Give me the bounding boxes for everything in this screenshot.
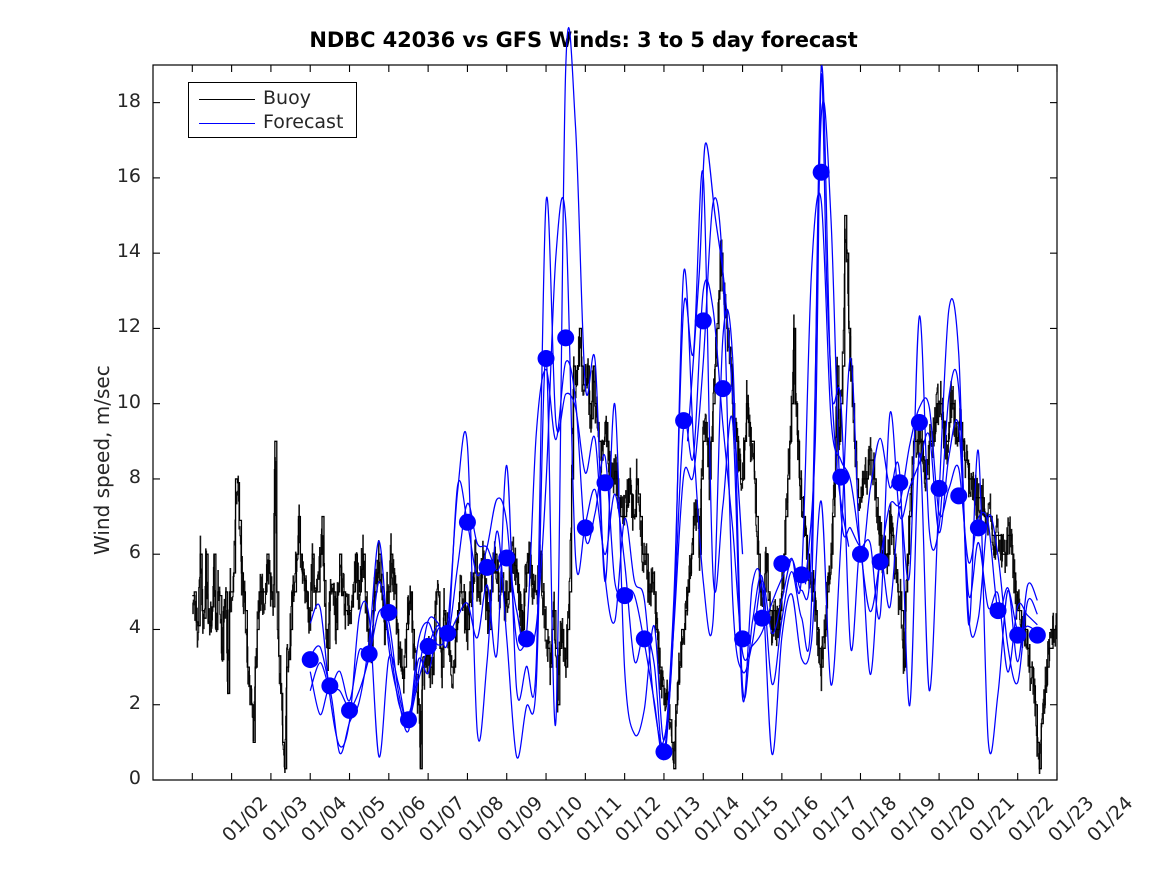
y-tick-label: 14 [101,240,141,262]
forecast-marker [538,350,555,367]
y-tick-label: 12 [101,315,141,337]
y-tick-label: 18 [101,90,141,112]
legend[interactable]: Buoy Forecast [188,82,357,138]
legend-swatch-forecast [199,123,255,124]
series-forecast-member [310,28,1037,759]
forecast-marker [479,559,496,576]
forecast-marker [773,555,790,572]
forecast-marker [675,412,692,429]
forecast-marker [321,677,338,694]
forecast-marker [498,549,515,566]
y-tick-label: 10 [101,391,141,413]
forecast-marker [577,519,594,536]
forecast-marker [302,651,319,668]
forecast-marker [361,645,378,662]
legend-label-buoy: Buoy [263,87,311,109]
legend-entry-buoy: Buoy [189,87,356,113]
forecast-marker [714,380,731,397]
forecast-marker [813,164,830,181]
forecast-marker [931,480,948,497]
series-forecast-member [310,101,1037,760]
legend-label-forecast: Forecast [263,111,343,133]
forecast-marker [891,474,908,491]
forecast-marker [380,604,397,621]
forecast-marker [734,630,751,647]
forecast-marker [1009,627,1026,644]
legend-swatch-buoy [199,99,255,100]
forecast-marker [911,414,928,431]
y-tick-label: 6 [101,541,141,563]
forecast-marker [420,638,437,655]
y-tick-label: 0 [101,767,141,789]
series-forecast-member [310,66,1037,754]
forecast-marker [852,546,869,563]
y-tick-label: 16 [101,165,141,187]
forecast-marker [557,329,574,346]
y-tick-label: 8 [101,466,141,488]
forecast-marker [832,469,849,486]
legend-entry-forecast: Forecast [189,111,356,137]
forecast-marker [872,553,889,570]
plot-area [0,0,1167,875]
forecast-marker [970,519,987,536]
y-tick-label: 2 [101,692,141,714]
forecast-marker [754,610,771,627]
forecast-marker [695,312,712,329]
forecast-marker [793,566,810,583]
figure-canvas: NDBC 42036 vs GFS Winds: 3 to 5 day fore… [0,0,1167,875]
forecast-marker [518,630,535,647]
forecast-marker [636,630,653,647]
forecast-marker [459,514,476,531]
forecast-marker [990,602,1007,619]
forecast-marker [439,625,456,642]
forecast-marker [597,474,614,491]
forecast-marker [1029,627,1046,644]
forecast-marker [400,711,417,728]
forecast-marker [341,702,358,719]
y-tick-label: 4 [101,616,141,638]
forecast-marker [616,587,633,604]
forecast-marker [950,487,967,504]
forecast-marker [655,743,672,760]
